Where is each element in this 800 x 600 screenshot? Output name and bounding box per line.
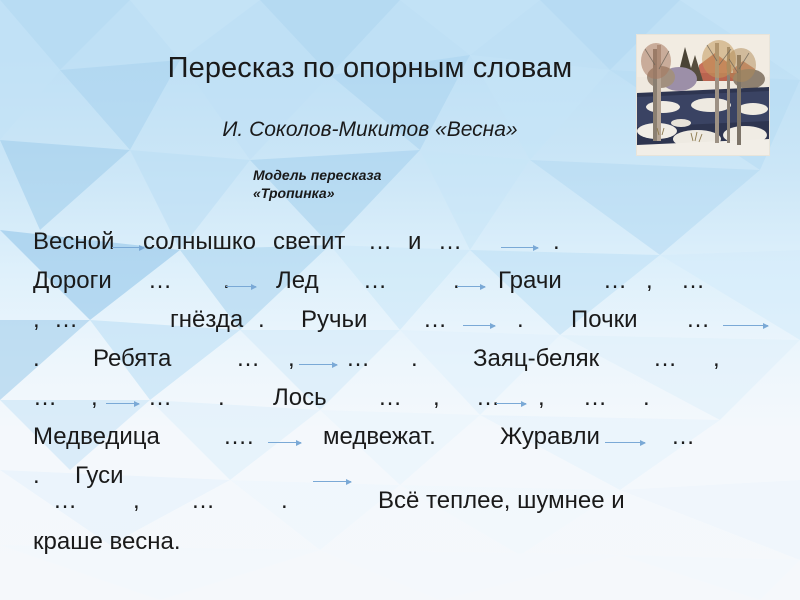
text-token: .	[218, 378, 225, 417]
text-line: …,….Всё теплее, шумнее и	[33, 480, 775, 521]
text-token: .	[33, 339, 40, 378]
model-note-line-2: «Тропинка»	[253, 185, 381, 203]
text-token: .	[281, 480, 288, 521]
text-line: Веснойсолнышкосветит…и….	[33, 222, 775, 261]
text-line: Дороги….Лед….Грачи…,…	[33, 261, 775, 300]
text-line: ,…гнёзда.Ручьи….Почки…	[33, 300, 775, 339]
text-token: Дороги	[33, 261, 112, 300]
right-arrow-icon	[457, 277, 485, 287]
text-token: ,	[91, 378, 98, 417]
text-token: Почки	[571, 300, 637, 339]
right-arrow-icon	[226, 277, 256, 287]
retelling-text: Веснойсолнышкосветит…и….Дороги….Лед….Гра…	[33, 222, 775, 495]
slide-title: Пересказ по опорным словам	[60, 52, 680, 85]
text-token: …	[603, 261, 627, 300]
text-token: …	[686, 300, 710, 339]
text-token: ….	[223, 417, 254, 456]
text-token: ,	[713, 339, 720, 378]
text-token: …	[53, 480, 77, 521]
text-token: ,	[33, 300, 40, 339]
right-arrow-icon	[268, 433, 301, 443]
text-token: ,	[538, 378, 545, 417]
text-token: …	[236, 339, 260, 378]
model-note-line-1: Модель пересказа	[253, 167, 381, 185]
text-token: Грачи	[498, 261, 562, 300]
text-token: …	[583, 378, 607, 417]
text-token: …	[378, 378, 402, 417]
right-arrow-icon	[106, 394, 139, 404]
text-token: …	[423, 300, 447, 339]
text-token: …	[191, 480, 215, 521]
text-token: .	[553, 222, 560, 261]
slide-canvas: Пересказ по опорным словам И. Соколов-Ми…	[0, 0, 800, 600]
text-token: …	[346, 339, 370, 378]
text-line: .Ребята…,….Заяц-беляк…,	[33, 339, 775, 378]
text-token: Лед	[276, 261, 319, 300]
text-token: солнышко	[143, 222, 256, 261]
right-arrow-icon	[501, 238, 538, 248]
text-token: Заяц-беляк	[473, 339, 599, 378]
text-line: краше весна.	[33, 521, 775, 562]
right-arrow-icon	[112, 238, 144, 248]
text-line: Медведица….медвежат.Журавли…	[33, 417, 775, 456]
text-token: гнёзда	[170, 300, 243, 339]
text-token: краше весна.	[33, 521, 181, 562]
text-token: ,	[288, 339, 295, 378]
slide-subtitle: И. Соколов-Микитов «Весна»	[60, 118, 680, 142]
text-line: …,….Лось…,…,….	[33, 378, 775, 417]
text-token: светит	[273, 222, 345, 261]
text-token: .	[643, 378, 650, 417]
right-arrow-icon	[299, 355, 337, 365]
text-token: .	[411, 339, 418, 378]
right-arrow-icon	[605, 433, 645, 443]
text-token: Ручьи	[301, 300, 367, 339]
text-token: …	[653, 339, 677, 378]
text-token: …	[363, 261, 387, 300]
text-token: медвежат.	[323, 417, 436, 456]
text-token: …	[438, 222, 462, 261]
right-arrow-icon	[496, 394, 526, 404]
text-token: …	[681, 261, 705, 300]
text-token: …	[148, 378, 172, 417]
text-token: Лось	[273, 378, 327, 417]
retelling-closing-text: …,….Всё теплее, шумнее икраше весна.	[33, 480, 775, 562]
text-token: ,	[133, 480, 140, 521]
text-token: Журавли	[500, 417, 600, 456]
text-token: Весной	[33, 222, 114, 261]
text-token: Всё теплее, шумнее и	[378, 480, 625, 521]
spring-landscape-painting	[636, 34, 770, 156]
text-token: ,	[433, 378, 440, 417]
text-token: ,	[646, 261, 653, 300]
text-token: .	[517, 300, 524, 339]
text-token: …	[368, 222, 392, 261]
text-token: …	[54, 300, 78, 339]
model-note: Модель пересказа «Тропинка»	[253, 167, 381, 203]
right-arrow-icon	[463, 316, 495, 326]
text-token: и	[408, 222, 421, 261]
text-token: Медведица	[33, 417, 160, 456]
text-token: …	[33, 378, 57, 417]
text-token: …	[148, 261, 172, 300]
text-token: Ребята	[93, 339, 171, 378]
text-token: …	[671, 417, 695, 456]
right-arrow-icon	[723, 316, 768, 326]
text-token: .	[258, 300, 265, 339]
